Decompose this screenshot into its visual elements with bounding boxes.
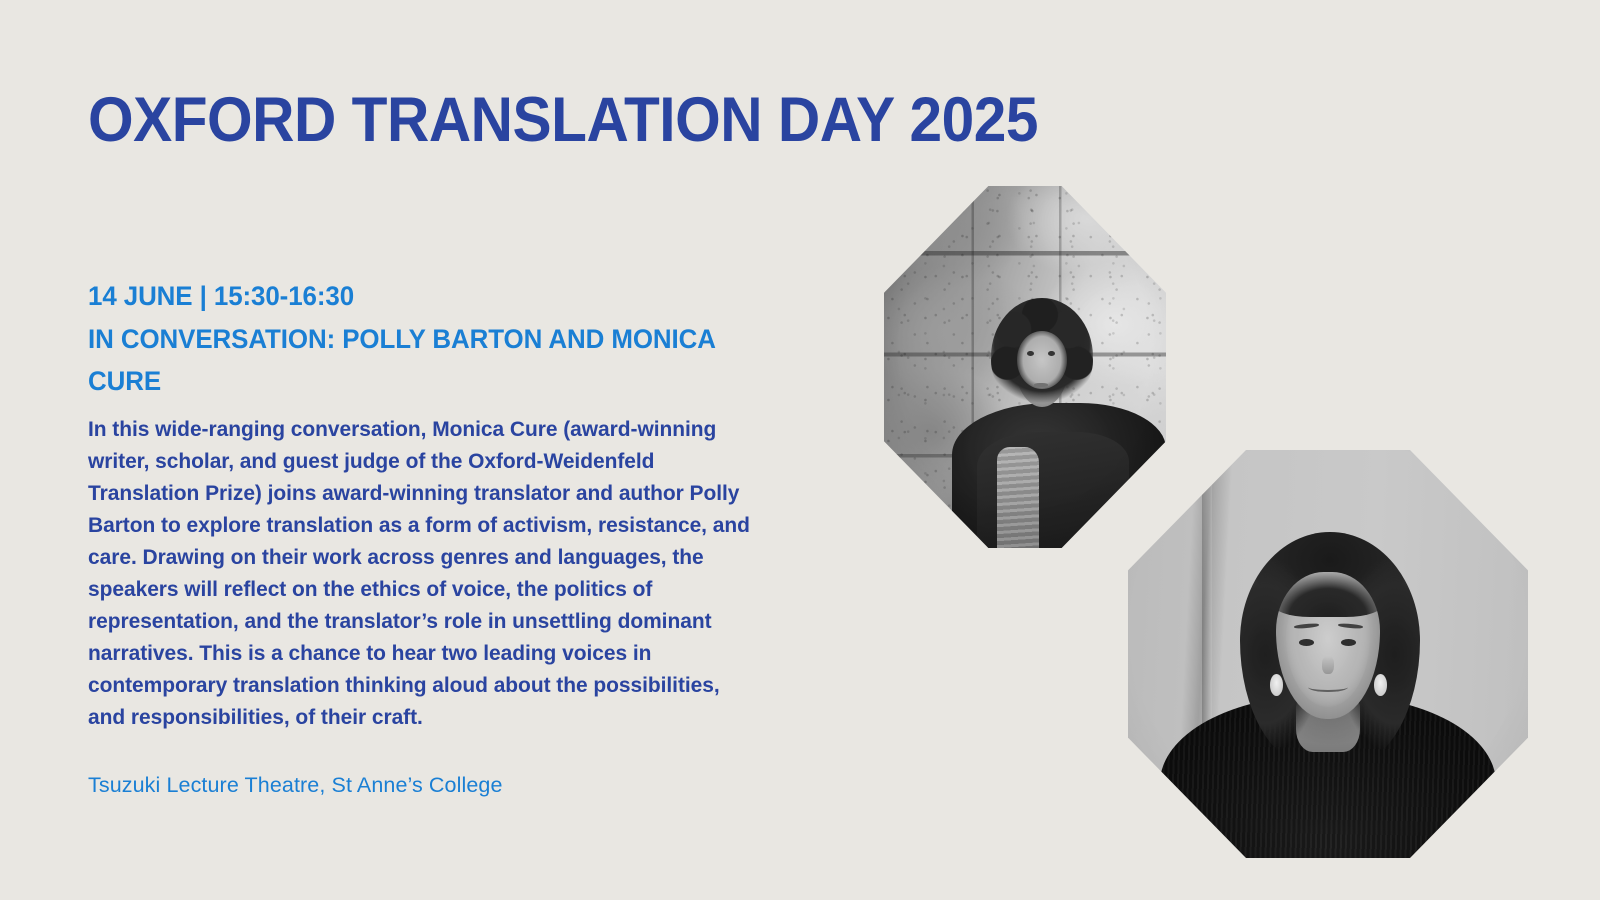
session-title: IN CONVERSATION: POLLY BARTON AND MONICA… — [88, 318, 750, 403]
portrait-image-2 — [1128, 450, 1528, 858]
poster-canvas: OXFORD TRANSLATION DAY 2025 14 JUNE | 15… — [0, 0, 1600, 900]
session-details: 14 JUNE | 15:30-16:30 IN CONVERSATION: P… — [88, 275, 778, 800]
photo-vignette — [1128, 450, 1528, 858]
session-description: In this wide-ranging conversation, Monic… — [88, 413, 761, 733]
session-time: 14 JUNE | 15:30-16:30 — [88, 275, 750, 318]
session-venue: Tsuzuki Lecture Theatre, St Anne’s Colle… — [88, 770, 778, 800]
portrait-polly-barton — [884, 186, 1166, 548]
page-title: OXFORD TRANSLATION DAY 2025 — [88, 88, 1185, 152]
photo-vignette — [884, 186, 1166, 548]
portrait-image-1 — [884, 186, 1166, 548]
portrait-monica-cure — [1128, 450, 1528, 858]
